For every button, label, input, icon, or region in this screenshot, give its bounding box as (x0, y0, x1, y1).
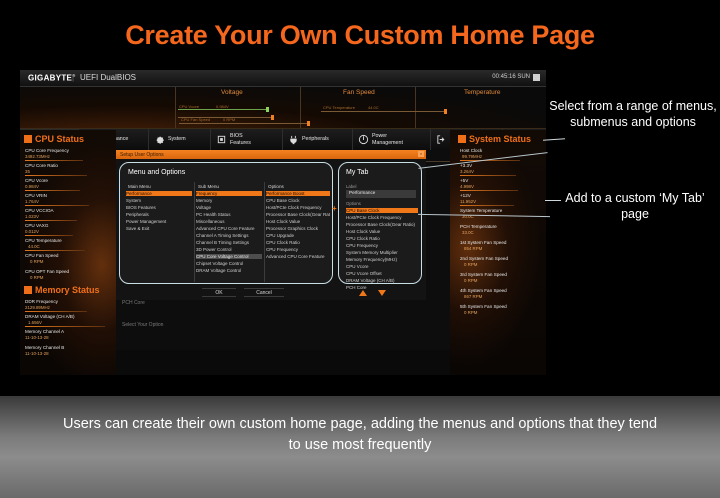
main-menu-item[interactable]: System (126, 198, 192, 203)
options-item[interactable]: Processor Graphics Clock (266, 226, 330, 231)
exit-icon (436, 134, 447, 145)
memory-status-label: Memory Channel B (25, 345, 64, 350)
cancel-button[interactable]: Cancel (244, 288, 284, 297)
my-tab-option[interactable]: DRAM Voltage (CH A/B) (346, 278, 418, 283)
settings-panel-footer: Select Your Option (122, 322, 163, 328)
clock-label: 00:45:16 SUN (492, 74, 530, 80)
divider (460, 175, 516, 176)
cpu-status-label: CPU VRIN (25, 193, 47, 198)
main-menu-column-header: Main Menu (128, 184, 151, 189)
menu-and-options-title: Menu and Options (128, 169, 185, 176)
my-tab-options-caption: Options (346, 201, 361, 206)
nav-tab-peripherals[interactable]: Peripherals (283, 129, 353, 151)
plug-icon (288, 134, 299, 145)
divider (460, 190, 518, 191)
options-item[interactable]: Host Clock Value (266, 219, 330, 224)
gauge-temperature-bar (321, 111, 446, 112)
divider (194, 182, 195, 282)
close-icon[interactable]: × (418, 151, 424, 157)
memory-status-value: 1.656V (28, 320, 42, 325)
memory-status-icon (24, 286, 32, 294)
system-status-label: +5V (460, 178, 468, 183)
system-status-value: 99.79MHz (462, 154, 482, 159)
main-menu-item[interactable]: Peripherals (126, 212, 192, 217)
callout-add-to-my-tab: Add to a custom ‘My Tab’ page (556, 190, 714, 222)
system-status-value: 0 RPM (464, 278, 477, 283)
my-tab-option[interactable]: CPU Base Clock (346, 208, 418, 213)
cpu-status-label: CPU Core Frequency (25, 148, 69, 153)
my-tab-option[interactable]: CPU Frequency (346, 243, 418, 248)
options-item[interactable]: CPU Clock Ratio (266, 240, 330, 245)
divider (25, 205, 89, 206)
my-tab-option[interactable]: CPU Vcore Offset (346, 271, 418, 276)
system-status-label: PCH Temperature (460, 224, 497, 229)
calendar-icon[interactable] (533, 74, 540, 81)
gigabyte-logo: GIGABYTE® (28, 73, 75, 83)
gauge-temperature-mini-label: CPU Temperature (323, 105, 355, 110)
main-menu-item[interactable]: Power Management (126, 219, 192, 224)
dialog-title-label: Setup User Options (120, 152, 164, 158)
divider (25, 235, 73, 236)
options-item[interactable]: Performance Boost (266, 191, 330, 196)
cpu-status-label: CPU Temperature (25, 238, 62, 243)
nav-tab-power-management-line2: Management (372, 140, 403, 147)
gauge-fanspeed: Fan Speed CPU Fan Speed 0 RPM (300, 87, 415, 131)
cpu-status-value: 0 RPM (30, 259, 43, 264)
options-item[interactable]: Advanced CPU Core Feature (266, 254, 330, 259)
gauge-voltage-knob2[interactable] (271, 115, 274, 120)
system-status-label: System Temperature (460, 208, 502, 213)
chip-icon (216, 134, 227, 145)
memory-status-value: 11-10-13-28 (25, 351, 49, 356)
ok-button[interactable]: OK (202, 288, 236, 297)
brand-divider: | (72, 73, 74, 82)
options-item[interactable]: CPU Upgrade (266, 233, 330, 238)
system-status-value: 33.0C (462, 230, 474, 235)
sub-menu-item[interactable]: Frequency (196, 191, 262, 196)
settings-row[interactable]: PCH Core (122, 300, 145, 306)
my-tab-label-caption: Label (346, 184, 357, 189)
cpu-status-value: 3492.73MHz (25, 154, 50, 159)
sub-menu-item[interactable]: PC Health Status (196, 212, 262, 217)
system-status-value: 4.998V (460, 184, 474, 189)
gauge-fanspeed-bar (179, 123, 309, 124)
callout-underline (543, 138, 565, 141)
my-tab-option[interactable]: System Memory Multiplier (346, 250, 418, 255)
callout-select-from-range: Select from a range of menus, submenus a… (548, 98, 718, 130)
gauge-fanspeed-mini-label: CPU Fan Speed (181, 117, 210, 122)
system-status-value: 0 RPM (464, 310, 477, 315)
divider (25, 190, 80, 191)
sub-menu-item[interactable]: Voltage (196, 205, 262, 210)
gauge-temperature-label: Temperature (464, 89, 501, 96)
my-tab-option[interactable]: Processor Base Clock(Gear Ratio) (346, 222, 418, 227)
gauge-voltage-knob1[interactable] (266, 107, 269, 112)
sub-menu-column-header: Sub Menu (198, 184, 219, 189)
options-item[interactable]: Host/PCIe Clock Frequency (266, 205, 330, 210)
main-menu-item[interactable]: Save & Exit (126, 226, 192, 231)
memory-status-heading: Memory Status (24, 285, 100, 295)
divider (25, 311, 87, 312)
cpu-status-value: 0 RPM (30, 275, 43, 280)
nav-tab-peripherals-label: Peripherals (302, 136, 329, 143)
gauge-fanspeed-mini-value: 0 RPM (223, 117, 235, 122)
cpu-status-label: CPU VAXG (25, 223, 48, 228)
memory-status-label: DDR Frequency (25, 299, 58, 304)
main-menu-item[interactable]: Performance (126, 191, 192, 196)
cpu-status-value: 1.023V (25, 214, 39, 219)
nav-tab-bios-features-line1: BIOS (230, 133, 243, 140)
system-status-label: Host Clock (460, 148, 482, 153)
cpu-status-value: 44.0C (28, 244, 40, 249)
gauge-temperature-mini-value: 44.0C (368, 105, 379, 110)
system-status-value: 3.264V (460, 169, 474, 174)
memory-status-value: 2129.89MHz (25, 305, 50, 310)
cpu-status-value: 0.984V (25, 184, 39, 189)
gauge-temperature: Temperature CPU Temperature 44.0C (415, 87, 546, 131)
bios-name-label: UEFI DualBIOS (80, 73, 136, 82)
cpu-status-label: CPU OPT Fan Speed (25, 269, 69, 274)
sub-menu-item[interactable]: DRAM Voltage Control (196, 268, 262, 273)
cpu-status-sidebar: CPU Status CPU Core Frequency 3492.73MHz… (20, 130, 116, 375)
system-status-value: 854 RPM (464, 246, 482, 251)
add-icon[interactable]: + (332, 204, 337, 213)
gauge-strip: Voltage CPU Vcore 0.984V Fan Speed CPU F… (20, 87, 546, 131)
my-tab-option[interactable]: Host/PCIe Clock Frequency (346, 215, 418, 220)
sub-menu-item[interactable]: 3D Power Control (196, 247, 262, 252)
setup-user-options-dialog: Setup User Options × Menu and Options Ma… (116, 150, 426, 300)
cpu-status-label: CPU Core Ratio (25, 163, 58, 168)
system-status-value: 867 RPM (464, 294, 482, 299)
sub-menu-item[interactable]: Memory (196, 198, 262, 203)
move-down-icon[interactable] (378, 290, 386, 296)
system-status-icon (458, 135, 466, 143)
cpu-status-heading: CPU Status (24, 134, 84, 144)
nav-tab-system[interactable]: System (149, 129, 211, 151)
sub-menu-item[interactable]: Channel A Timing Settings (196, 233, 262, 238)
divider (25, 220, 77, 221)
bios-screenshot: GIGABYTE® | UEFI DualBIOS 00:45:16 SUN V… (20, 70, 546, 375)
sub-menu-item[interactable]: CPU Core Voltage Control (196, 254, 262, 259)
main-menu-item[interactable]: BIOS Features (126, 205, 192, 210)
system-status-label: 2nd System Fan Speed (460, 256, 508, 261)
my-tab-option[interactable]: CPU Clock Ratio (346, 236, 418, 241)
cpu-status-label: CPU VCCIOA (25, 208, 54, 213)
gauge-voltage-bar1 (178, 109, 268, 110)
power-icon (358, 134, 369, 145)
dialog-title-bar: Setup User Options × (116, 150, 426, 159)
divider (25, 326, 105, 327)
divider (25, 175, 87, 176)
system-status-label: 1st System Fan Speed (460, 240, 506, 245)
caption-text: Users can create their own custom home p… (60, 414, 660, 456)
divider (25, 250, 85, 251)
system-status-label: 5th System Fan Speed (460, 304, 507, 309)
nav-tab-power-management[interactable]: Power Management (353, 129, 431, 151)
options-item[interactable]: CPU Frequency (266, 247, 330, 252)
system-status-value: 11.952V (460, 199, 476, 204)
my-tab-label-input[interactable]: Performance (346, 190, 416, 198)
system-status-label: +12V (460, 193, 471, 198)
nav-tab-system-label: System (168, 136, 186, 143)
cpu-status-icon (24, 135, 32, 143)
memory-status-label: Memory Channel A (25, 329, 64, 334)
system-status-sidebar: System Status Host Clock 99.79MHz +3.3V … (450, 130, 546, 375)
my-tab-option[interactable]: Host Clock Value (346, 229, 418, 234)
gauge-voltage-label: Voltage (221, 89, 243, 96)
options-item[interactable]: CPU Base Clock (266, 198, 330, 203)
sub-menu-item[interactable]: Advanced CPU Core Feature (196, 226, 262, 231)
divider (264, 182, 265, 282)
cpu-status-value: 0.012V (25, 229, 39, 234)
my-tab-title: My Tab (346, 169, 368, 176)
sub-menu-item[interactable]: Miscellaneous (196, 219, 262, 224)
system-status-heading: System Status (458, 134, 531, 144)
options-item[interactable]: Processor Base Clock(Gear Ratio) (266, 212, 330, 217)
my-tab-option[interactable]: Memory Frequency(MHz) (346, 257, 418, 262)
sub-menu-item[interactable]: Chipset Voltage Control (196, 261, 262, 266)
nav-tab-bios-features-line2: Features (230, 140, 251, 147)
gauge-temperature-knob[interactable] (444, 109, 447, 114)
system-status-label: 3rd System Fan Speed (460, 272, 507, 277)
nav-tab-bios-features[interactable]: BIOS Features (211, 129, 283, 151)
gauge-voltage: Voltage CPU Vcore 0.984V (175, 87, 300, 131)
cpu-status-value: 35 (25, 169, 30, 174)
system-status-label: +3.3V (460, 163, 472, 168)
sub-menu-item[interactable]: Channel B Timing Settings (196, 240, 262, 245)
system-status-label: 4th System Fan Speed (460, 288, 507, 293)
cpu-status-label: CPU Fan Speed (25, 253, 58, 258)
memory-status-label: DRAM Voltage (CH A/B) (25, 314, 75, 319)
system-status-value: 0 RPM (464, 262, 477, 267)
memory-status-value: 11-10-13-28 (25, 335, 49, 340)
gauge-fanspeed-label: Fan Speed (343, 89, 375, 96)
gauge-fanspeed-knob[interactable] (307, 121, 310, 126)
options-column-header: Options (268, 184, 284, 189)
dialog-body: Menu and Options Main Menu Sub Menu Opti… (116, 159, 426, 300)
page-title: Create Your Own Custom Home Page (0, 20, 720, 51)
gear-icon (154, 134, 165, 145)
bios-title-bar: GIGABYTE® | UEFI DualBIOS 00:45:16 SUN (20, 70, 546, 87)
divider (460, 205, 514, 206)
my-tab-option[interactable]: CPU Vcore (346, 264, 418, 269)
cpu-status-label: CPU Vcore (25, 178, 48, 183)
move-up-icon[interactable] (359, 290, 367, 296)
cpu-status-value: 1.764V (25, 199, 39, 204)
nav-tab-power-management-line1: Power (372, 133, 387, 140)
divider (25, 160, 83, 161)
